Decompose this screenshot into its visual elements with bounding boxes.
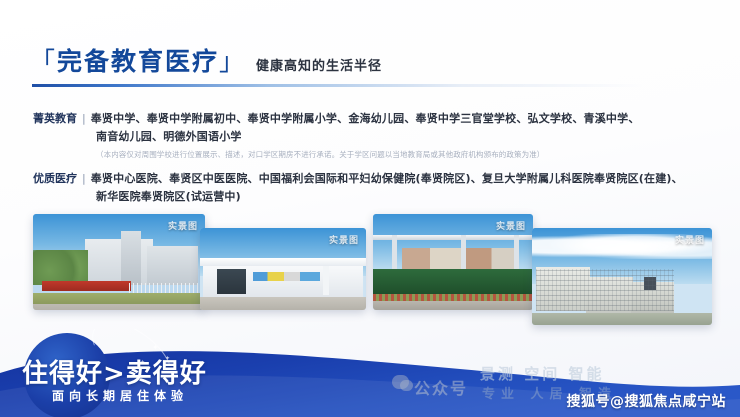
- title-text: 「完备教育医疗」: [30, 42, 246, 78]
- photo-ground: [532, 313, 712, 325]
- post-shape: [461, 235, 466, 271]
- ghost-slogan-primary: 景测 空间 智能: [480, 363, 604, 384]
- banner-slogan-main: 住得好>卖得好: [22, 353, 207, 390]
- slide-canvas: 「完备教育医疗」 健康高知的生活半径 菁英教育 | 奉贤中学、奉贤中学附属初中、…: [0, 0, 740, 417]
- bottom-banner: ✦ ✦ ✦ 住得好>卖得好 面向长期居住体验 公众号 景测 空间 智能 专业 人…: [0, 329, 740, 417]
- flowerbed-shape: [373, 294, 533, 302]
- photo-ground: [200, 297, 366, 310]
- red-sign-shape: [42, 281, 131, 291]
- title-close-bracket: 」: [219, 47, 246, 76]
- fence-shape: [129, 283, 201, 293]
- building-shape: [121, 231, 142, 285]
- post-shape: [392, 235, 397, 271]
- section-education: 菁英教育 | 奉贤中学、奉贤中学附属初中、奉贤中学附属小学、金海幼儿园、奉贤中学…: [33, 110, 723, 161]
- building-shape: [85, 239, 154, 285]
- education-text-1: 奉贤中学、奉贤中学附属初中、奉贤中学附属小学、金海幼儿园、奉贤中学三官堂学校、弘…: [91, 110, 640, 128]
- building-shape: [147, 246, 199, 285]
- page-title: 「完备教育医疗」 健康高知的生活半径: [30, 42, 382, 78]
- sparkle-icon: ✦: [152, 343, 159, 352]
- photo-tag: 实景图: [675, 233, 705, 246]
- title-main-text: 完备教育医疗: [57, 47, 219, 76]
- title-divider: [32, 84, 727, 87]
- photo-school-main-gate: 实景图: [33, 214, 205, 310]
- medical-text-2: 新华医院奉贤院区(试运营中): [33, 188, 723, 206]
- source-watermark: 搜狐号@搜狐焦点咸宁站: [567, 391, 727, 411]
- education-disclaimer: （本内容仅对周围学校进行位置展示、描述，对口学区期房不进行承诺。关于学区问题以当…: [33, 149, 723, 161]
- photo-school-white-gate: 实景图: [200, 228, 366, 310]
- canopy-shape: [200, 258, 366, 265]
- post-shape: [514, 235, 519, 271]
- medical-separator: |: [77, 170, 91, 188]
- photo-tag: 实景图: [168, 219, 198, 232]
- entrance-shape: [217, 269, 247, 294]
- panel-shape: [253, 272, 319, 281]
- photo-school-hedge-sign: 实景图: [373, 214, 533, 310]
- photo-hospital-complex: 实景图: [532, 228, 712, 325]
- education-label: 菁英教育: [33, 110, 77, 128]
- education-text-2: 南音幼儿园、明德外国语小学: [33, 128, 723, 146]
- education-line-1: 菁英教育 | 奉贤中学、奉贤中学附属初中、奉贤中学附属小学、金海幼儿园、奉贤中学…: [33, 110, 723, 128]
- window-grid: [536, 269, 675, 312]
- section-medical: 优质医疗 | 奉贤中心医院、奉贤区中医医院、中国福利会国际和平妇幼保健院(奉贤院…: [33, 170, 723, 206]
- tree-shape: [33, 250, 88, 285]
- title-subtitle: 健康高知的生活半径: [256, 55, 382, 74]
- road-shape: [373, 301, 533, 310]
- pillar-shape: [323, 266, 330, 296]
- lawn-shape: [33, 293, 205, 305]
- title-open-bracket: 「: [30, 47, 57, 76]
- education-separator: |: [77, 110, 91, 128]
- wechat-icon: [392, 375, 409, 389]
- medical-line-1: 优质医疗 | 奉贤中心医院、奉贤区中医医院、中国福利会国际和平妇幼保健院(奉贤院…: [33, 170, 723, 188]
- hedge-shape: [373, 269, 533, 294]
- photo-tag: 实景图: [329, 233, 359, 246]
- medical-label: 优质医疗: [33, 170, 77, 188]
- banner-slogan-sub: 面向长期居住体验: [52, 387, 188, 404]
- photo-tag: 实景图: [496, 219, 526, 232]
- medical-text-1: 奉贤中心医院、奉贤区中医医院、中国福利会国际和平妇幼保健院(奉贤院区)、复旦大学…: [91, 170, 683, 188]
- ghost-wechat-label: 公众号: [414, 375, 468, 399]
- arch-shape: [373, 235, 533, 240]
